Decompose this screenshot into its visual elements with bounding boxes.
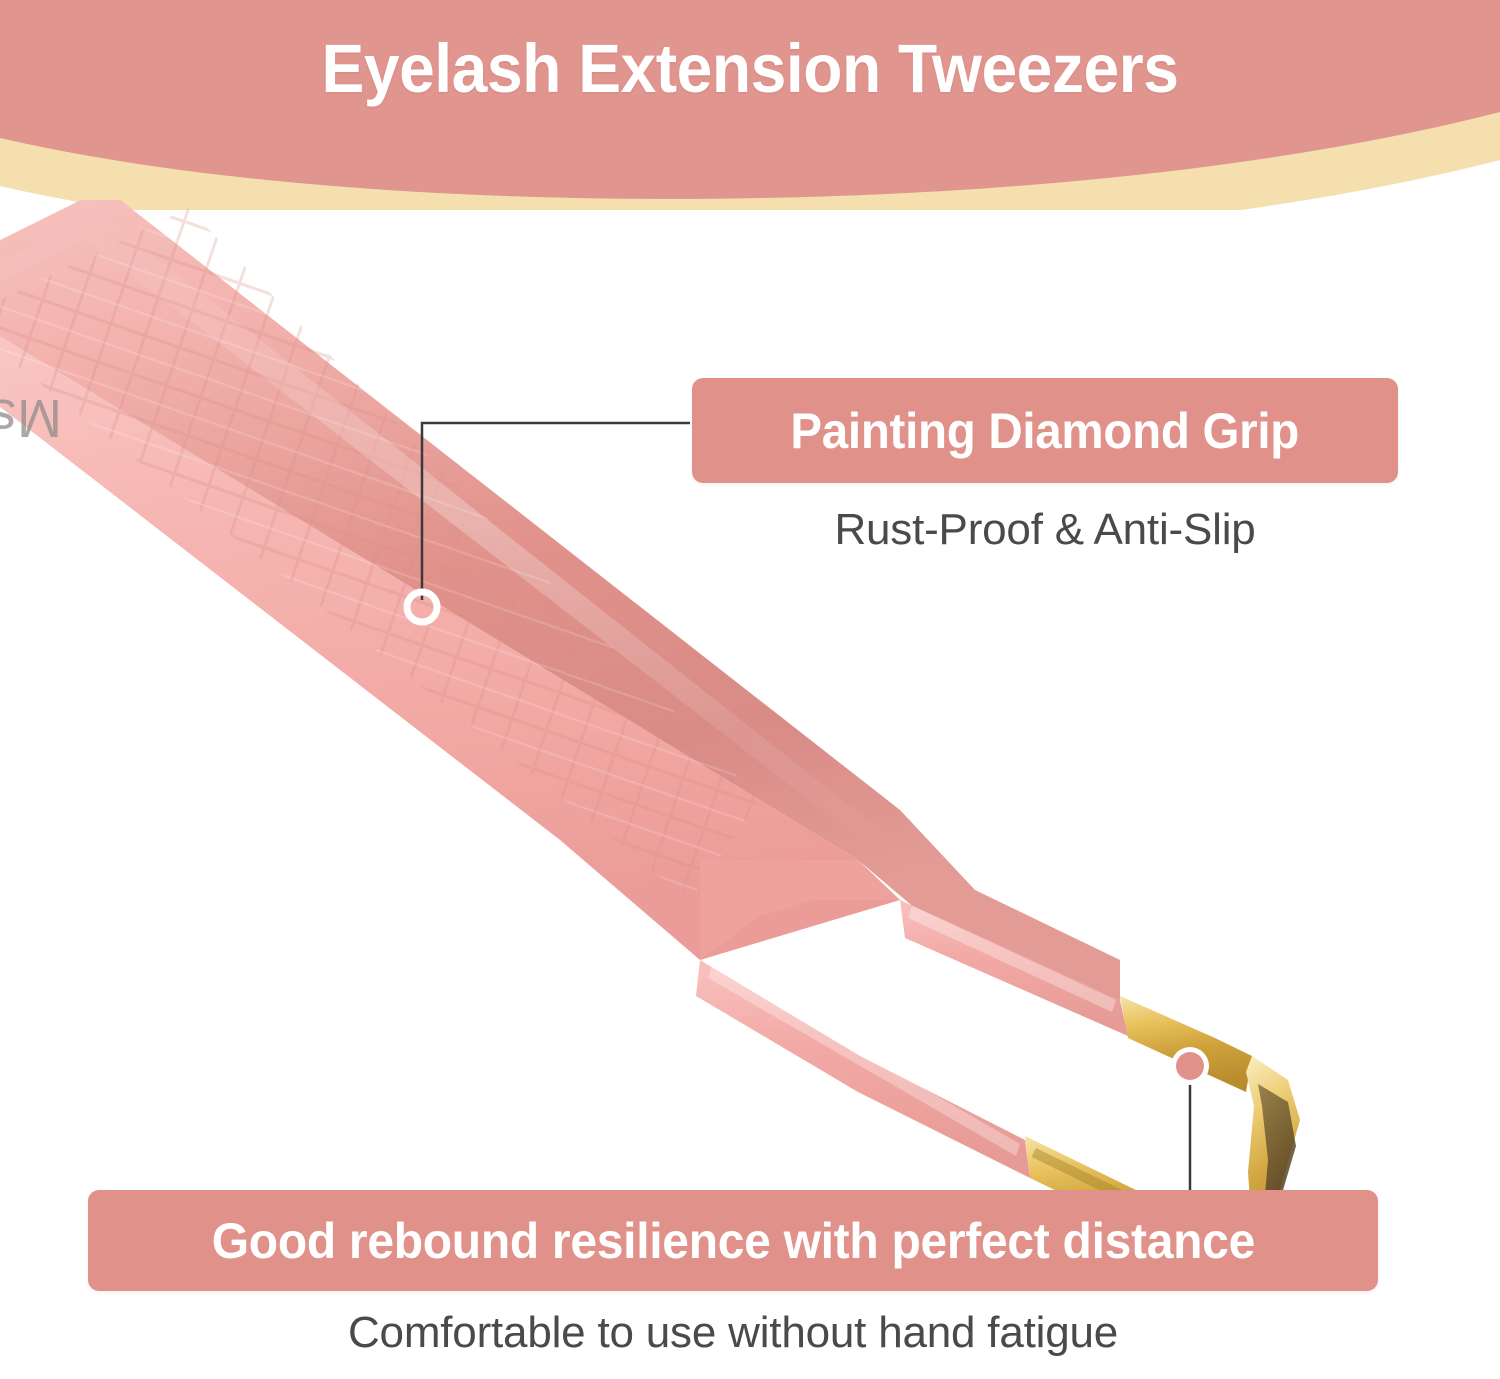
- callout-box-grip[interactable]: Painting Diamond Grip: [692, 378, 1398, 483]
- header-banner: Eyelash Extension Tweezers: [0, 0, 1500, 210]
- callout-subtitle-grip: Rust-Proof & Anti-Slip: [692, 505, 1398, 555]
- infographic-canvas: Eyelash Extension Tweezers: [0, 0, 1500, 1379]
- diamond-grip-texture: [0, 200, 840, 960]
- brand-imprint: Ms.Que: [0, 388, 62, 448]
- callout-box-rebound[interactable]: Good rebound resilience with perfect dis…: [88, 1190, 1378, 1291]
- callout-subtitle-rebound: Comfortable to use without hand fatigue: [88, 1308, 1378, 1358]
- callout-label-grip: Painting Diamond Grip: [791, 402, 1300, 460]
- upper-gold-ferrule: [1120, 996, 1252, 1092]
- callout-label-rebound: Good rebound resilience with perfect dis…: [211, 1212, 1254, 1270]
- page-title: Eyelash Extension Tweezers: [53, 34, 1448, 103]
- product-image: Ms.Que: [0, 200, 1420, 1220]
